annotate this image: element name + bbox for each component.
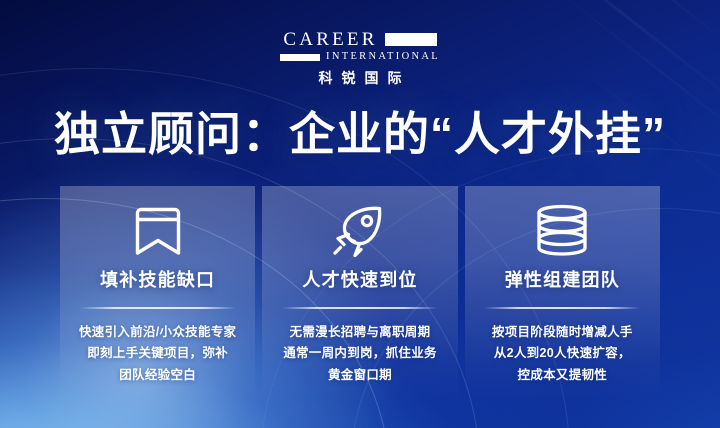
feature-card-desc-line: 按项目阶段随时增减人手 (492, 322, 633, 344)
logo-chinese-name: 科锐国际 (310, 68, 411, 88)
logo-secondary-row: INTERNATIONAL (280, 52, 440, 63)
feature-card-description: 无需漫长招聘与离职周期 通常一周内到岗，抓住业务 黄金窗口期 (283, 322, 437, 387)
feature-card-divider (282, 307, 438, 309)
page-title: 独立顾问：企业的“人才外挂” (0, 98, 720, 164)
feature-card-description: 按项目阶段随时增减人手 从2人到20人快速扩容， 控成本又提韧性 (492, 322, 633, 387)
feature-card-desc-line: 黄金窗口期 (283, 365, 437, 387)
feature-card-flexible-team: 弹性组建团队 按项目阶段随时增减人手 从2人到20人快速扩容， 控成本又提韧性 (465, 186, 660, 400)
feature-card-description: 快速引入前沿/小众技能专家 即刻上手关键项目，弥补 团队经验空白 (79, 322, 236, 387)
logo-international-text: INTERNATIONAL (326, 52, 440, 63)
feature-card-desc-line: 无需漫长招聘与离职周期 (283, 322, 437, 344)
brand-logo: CAREER INTERNATIONAL 科锐国际 (0, 30, 720, 88)
feature-card-desc-line: 即刻上手关键项目，弥补 (79, 343, 236, 365)
feature-card-desc-line: 通常一周内到岗，抓住业务 (283, 343, 437, 365)
feature-card-desc-line: 从2人到20人快速扩容， (492, 343, 633, 365)
feature-card-title: 填补技能缺口 (100, 266, 215, 292)
bookmark-icon (132, 204, 184, 258)
feature-card-row: 填补技能缺口 快速引入前沿/小众技能专家 即刻上手关键项目，弥补 团队经验空白 … (60, 186, 660, 400)
feature-card-divider (484, 307, 640, 309)
logo-white-bar (280, 54, 320, 61)
feature-card-skill-gap: 填补技能缺口 快速引入前沿/小众技能专家 即刻上手关键项目，弥补 团队经验空白 (60, 186, 255, 400)
rocket-icon (330, 204, 390, 258)
logo-career-text: CAREER (283, 30, 377, 49)
logo-primary-row: CAREER (283, 30, 436, 49)
poster-canvas: CAREER INTERNATIONAL 科锐国际 独立顾问：企业的“人才外挂”… (0, 0, 720, 428)
spring-coil-icon (531, 204, 593, 258)
logo-white-block (385, 33, 437, 46)
feature-card-divider (80, 307, 236, 309)
feature-card-title: 弹性组建团队 (505, 266, 620, 292)
feature-card-desc-line: 快速引入前沿/小众技能专家 (79, 322, 236, 344)
feature-card-fast-staffing: 人才快速到位 无需漫长招聘与离职周期 通常一周内到岗，抓住业务 黄金窗口期 (262, 186, 457, 400)
feature-card-title: 人才快速到位 (302, 266, 417, 292)
feature-card-desc-line: 团队经验空白 (79, 365, 236, 387)
feature-card-desc-line: 控成本又提韧性 (492, 365, 633, 387)
